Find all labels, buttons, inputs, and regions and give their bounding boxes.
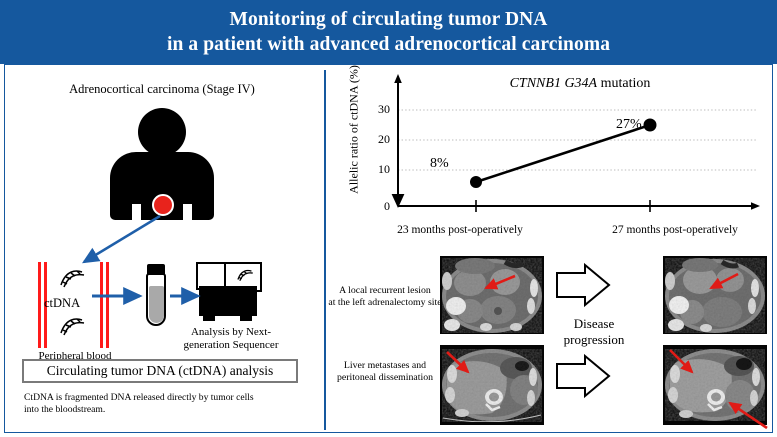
ct-row2-label: Liver metastases and peritoneal dissemin…: [326, 360, 444, 384]
tumor-marker-icon: [152, 194, 174, 216]
figure-header-banner: Monitoring of circulating tumor DNA in a…: [0, 0, 777, 64]
chart-title-gene: CTNNB1 G34A: [510, 76, 598, 91]
chart-title-suffix: mutation: [601, 76, 651, 91]
ctdna-allelic-ratio-chart: CTNNB1 G34A mutation Allelic ratio of ct…: [330, 72, 777, 240]
analysis-summary-label: Circulating tumor DNA (ctDNA) analysis: [47, 363, 273, 379]
person-arm-gap-left: [132, 204, 141, 222]
dna-helix-icon: [58, 268, 86, 292]
tube-cap: [147, 264, 165, 275]
ct-row1-label-line-1: A local recurrent lesion: [339, 285, 431, 296]
dna-helix-icon: [58, 316, 86, 340]
x-tick-second: 27 months post-operatively: [580, 224, 770, 236]
ctdna-footnote-line-2: into the bloodstream.: [24, 404, 105, 415]
ct-row2-label-line-1: Liver metastases and: [344, 360, 426, 371]
ct-row1-label: A local recurrent lesion at the left adr…: [326, 285, 444, 309]
disease-progression-label: Disease progression: [548, 316, 640, 348]
person-icon: [106, 108, 218, 220]
dna-helix-icon: [236, 267, 254, 287]
person-arm-gap-right: [183, 204, 192, 222]
sequencer-foot-right: [240, 314, 252, 321]
sequencer-machine-icon: [196, 262, 262, 324]
ct-row1-label-line-2: at the left adrenalectomy site: [328, 297, 441, 308]
sequencer-label: Analysis by Next- generation Sequencer: [166, 326, 296, 352]
left-panel-title: Adrenocortical carcinoma (Stage IV): [0, 82, 324, 97]
chart-y-axis-label: Allelic ratio of ctDNA (%): [347, 60, 362, 200]
ctdna-footnote-line-1: CtDNA is fragmented DNA released directl…: [24, 392, 254, 403]
header-title-line-2: in a patient with advanced adrenocortica…: [167, 32, 610, 57]
disease-progression-line-1: Disease: [574, 316, 614, 331]
analysis-summary-box: Circulating tumor DNA (ctDNA) analysis: [22, 359, 298, 383]
dna-helix-glyph: [236, 267, 254, 283]
y-tick-20: 20: [364, 132, 390, 147]
sequencer-foot-left: [203, 314, 215, 321]
sequencer-body: [199, 286, 257, 316]
tube-blood-fill: [149, 286, 164, 323]
chart-title: CTNNB1 G34A mutation: [460, 76, 700, 92]
person-head: [138, 108, 186, 156]
data-label-first: 8%: [430, 156, 449, 172]
sequencer-label-line-2: generation Sequencer: [184, 339, 279, 351]
ctdna-label: ctDNA: [44, 296, 80, 311]
x-tick-first: 23 months post-operatively: [365, 224, 555, 236]
blood-vessel-right-wall: [100, 262, 110, 348]
graphical-abstract-figure: Monitoring of circulating tumor DNA in a…: [0, 0, 777, 437]
header-title-line-1: Monitoring of circulating tumor DNA: [229, 7, 547, 32]
ct-row2-label-line-2: peritoneal dissemination: [337, 372, 433, 383]
dna-helix-glyph: [58, 316, 86, 336]
y-tick-10: 10: [364, 162, 390, 177]
sequencer-label-line-1: Analysis by Next-: [191, 326, 271, 338]
data-label-second: 27%: [616, 117, 642, 133]
y-tick-0: 0: [364, 199, 390, 214]
y-tick-30: 30: [364, 102, 390, 117]
disease-progression-line-2: progression: [564, 332, 625, 347]
ctdna-footnote: CtDNA is fragmented DNA released directl…: [24, 392, 314, 416]
blood-collection-tube-icon: [146, 264, 166, 326]
dna-helix-glyph: [58, 268, 86, 288]
